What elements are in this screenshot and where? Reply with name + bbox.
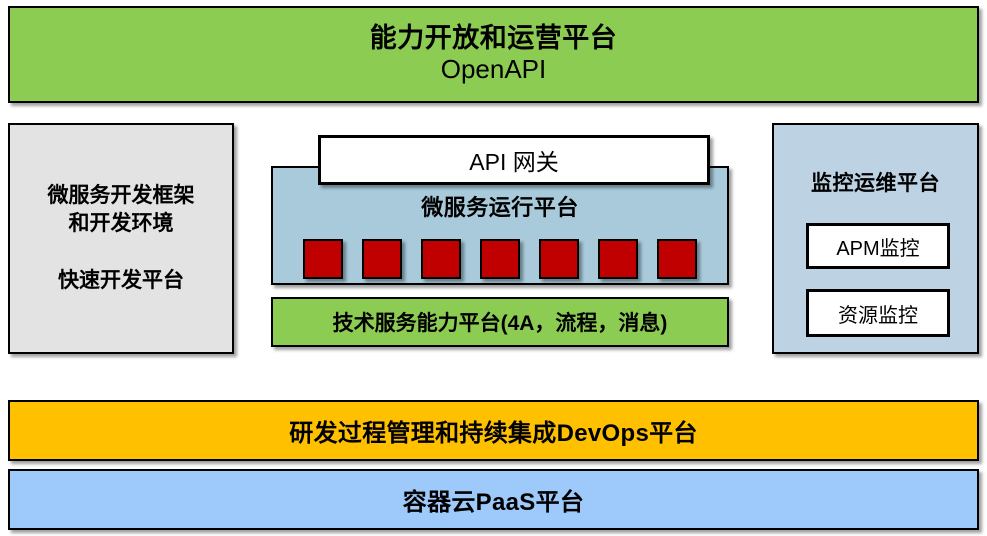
api-gateway-label: API 网关 bbox=[469, 143, 558, 177]
service-block-row bbox=[271, 237, 729, 281]
monitoring-title: 监控运维平台 bbox=[811, 167, 940, 197]
banner-subtitle: OpenAPI bbox=[441, 54, 547, 85]
banner-title: 能力开放和运营平台 bbox=[370, 23, 618, 54]
panel-dev-framework: 微服务开发框架 和开发环境 快速开发平台 bbox=[8, 123, 234, 354]
service-block bbox=[657, 239, 697, 279]
service-block bbox=[303, 239, 343, 279]
service-block bbox=[362, 239, 402, 279]
box-api-gateway: API 网关 bbox=[318, 135, 710, 185]
dev-framework-group: 微服务开发框架 和开发环境 bbox=[40, 182, 203, 237]
resource-monitor-label: 资源监控 bbox=[838, 299, 918, 328]
box-resource-monitor: 资源监控 bbox=[806, 289, 950, 337]
apm-monitor-label: APM监控 bbox=[836, 232, 919, 261]
microservice-runtime-title: 微服务运行平台 bbox=[421, 190, 579, 222]
tech-service-label: 技术服务能力平台(4A，流程，消息) bbox=[333, 307, 668, 337]
bar-tech-service-capability: 技术服务能力平台(4A，流程，消息) bbox=[271, 297, 729, 347]
devops-label: 研发过程管理和持续集成DevOps平台 bbox=[289, 413, 697, 448]
service-block bbox=[421, 239, 461, 279]
service-block bbox=[539, 239, 579, 279]
bar-container-paas-platform: 容器云PaaS平台 bbox=[8, 469, 979, 530]
bar-devops-platform: 研发过程管理和持续集成DevOps平台 bbox=[8, 400, 979, 461]
box-apm-monitor: APM监控 bbox=[806, 223, 950, 269]
banner-capability-openapi: 能力开放和运营平台 OpenAPI bbox=[8, 6, 979, 103]
service-block bbox=[480, 239, 520, 279]
architecture-diagram-canvas: 能力开放和运营平台 OpenAPI 微服务开发框架 和开发环境 快速开发平台 微… bbox=[0, 0, 987, 536]
dev-framework-line-1: 微服务开发框架 bbox=[48, 182, 195, 210]
rapid-dev-platform-label: 快速开发平台 bbox=[58, 267, 184, 295]
paas-label: 容器云PaaS平台 bbox=[403, 482, 584, 517]
dev-framework-line-2: 和开发环境 bbox=[48, 210, 195, 238]
service-block bbox=[598, 239, 638, 279]
